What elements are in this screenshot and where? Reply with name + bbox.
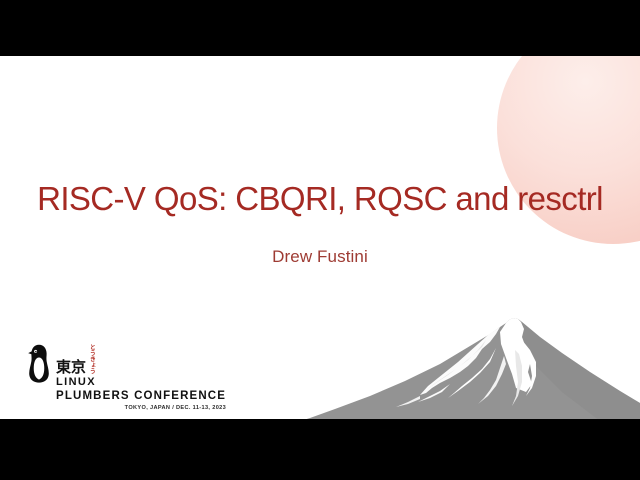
page-title: RISC-V QoS: CBQRI, RQSC and resctrl (0, 182, 640, 215)
logo-tokyo-kana: とうきょう (88, 344, 94, 374)
logo-tokyo-row: 東京 とうきょう (56, 344, 226, 375)
logo-tokyo-kanji: 東京 (56, 360, 86, 375)
logo-wordmark: 東京 とうきょう LINUX PLUMBERS CONFERENCE TOKYO… (56, 344, 226, 411)
letterbox-bar-top (0, 0, 640, 56)
video-frame: RISC-V QoS: CBQRI, RQSC and resctrl Drew… (0, 0, 640, 480)
logo-plumbers-conference-text: PLUMBERS CONFERENCE (56, 390, 226, 403)
conference-logo: 東京 とうきょう LINUX PLUMBERS CONFERENCE TOKYO… (28, 344, 226, 411)
penguin-icon (28, 344, 50, 384)
presentation-slide: RISC-V QoS: CBQRI, RQSC and resctrl Drew… (0, 56, 640, 419)
logo-location-date-text: TOKYO, JAPAN / DEC. 11-13, 2023 (56, 406, 226, 412)
letterbox-bar-bottom (0, 419, 640, 480)
mount-fuji-icon (300, 296, 640, 419)
logo-linux-text: LINUX (56, 376, 226, 389)
presenter-name: Drew Fustini (0, 248, 640, 265)
